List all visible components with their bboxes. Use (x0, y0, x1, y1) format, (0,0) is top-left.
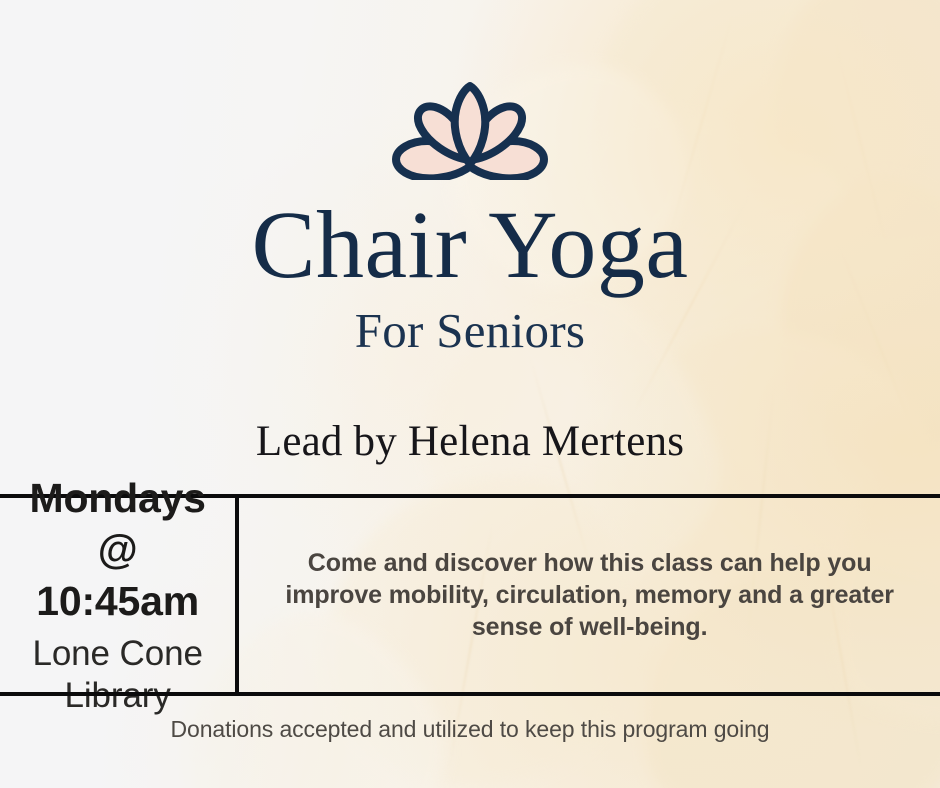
schedule-location: Lone Cone Library (18, 633, 217, 717)
lotus-flower-icon (386, 78, 554, 180)
divider-bottom (0, 692, 940, 696)
page-title: Chair Yoga (0, 196, 940, 294)
description-text: Come and discover how this class can hel… (263, 547, 916, 643)
headline: Chair Yoga For Seniors (0, 196, 940, 358)
schedule-time: Mondays @ 10:45am (18, 473, 217, 628)
logo (0, 78, 940, 180)
instructor-line: Lead by Helena Mertens (0, 418, 940, 465)
donation-note: Donations accepted and utilized to keep … (0, 716, 940, 743)
info-panels: Mondays @ 10:45am Lone Cone Library Come… (0, 498, 940, 692)
schedule-panel: Mondays @ 10:45am Lone Cone Library (0, 498, 235, 692)
page-subtitle: For Seniors (0, 304, 940, 358)
description-panel: Come and discover how this class can hel… (239, 498, 940, 692)
chair-yoga-flyer: Chair Yoga For Seniors Lead by Helena Me… (0, 0, 940, 788)
